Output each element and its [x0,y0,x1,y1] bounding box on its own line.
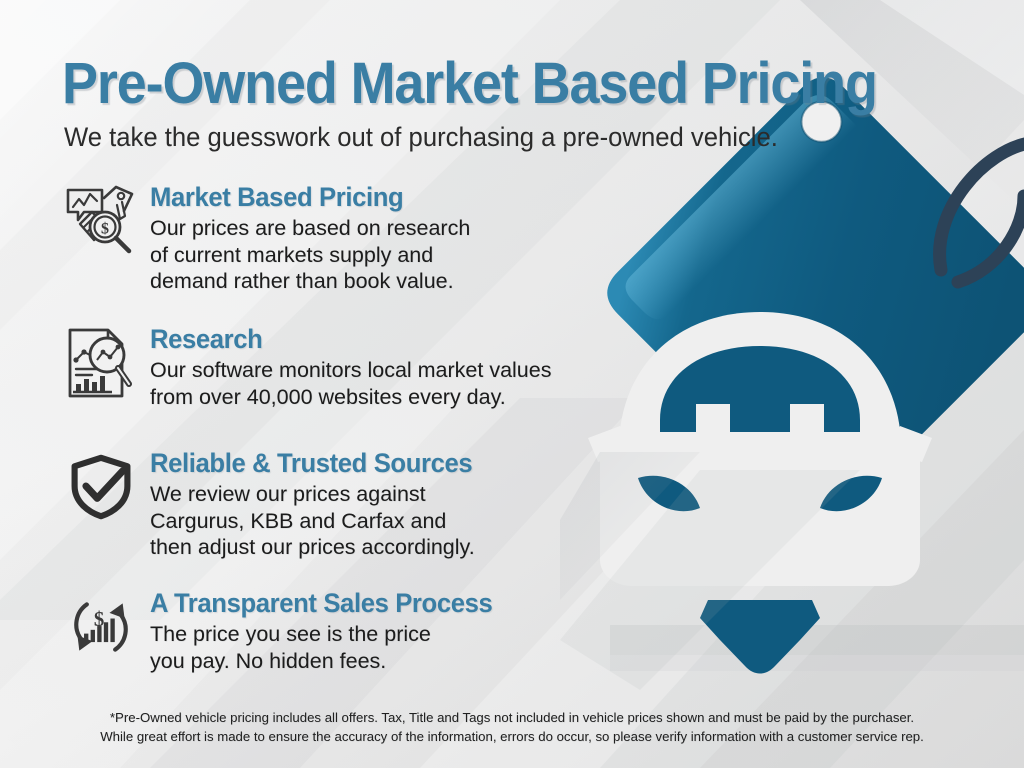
page-title: Pre-Owned Market Based Pricing [62,50,877,117]
refresh-dollar-bars-icon: $ [68,594,134,660]
feature-heading: Reliable & Trusted Sources [150,448,472,479]
feature-body: Our software monitors local market value… [150,357,551,410]
disclaimer-text: *Pre-Owned vehicle pricing includes all … [0,708,1024,746]
feature-body: Our prices are based on research of curr… [150,215,470,295]
shield-check-icon [68,454,134,520]
feature-body: The price you see is the price you pay. … [150,621,510,674]
svg-text:$: $ [101,221,109,238]
feature-body: We review our prices against Cargurus, K… [150,481,489,561]
feature-heading: Market Based Pricing [150,182,454,213]
chart-tag-magnifier-dollar-icon: $ [60,182,140,262]
document-chart-magnifier-icon [60,324,140,404]
page-subtitle: We take the guesswork out of purchasing … [64,122,778,153]
feature-heading: Research [150,324,531,355]
feature-heading: A Transparent Sales Process [150,588,492,619]
